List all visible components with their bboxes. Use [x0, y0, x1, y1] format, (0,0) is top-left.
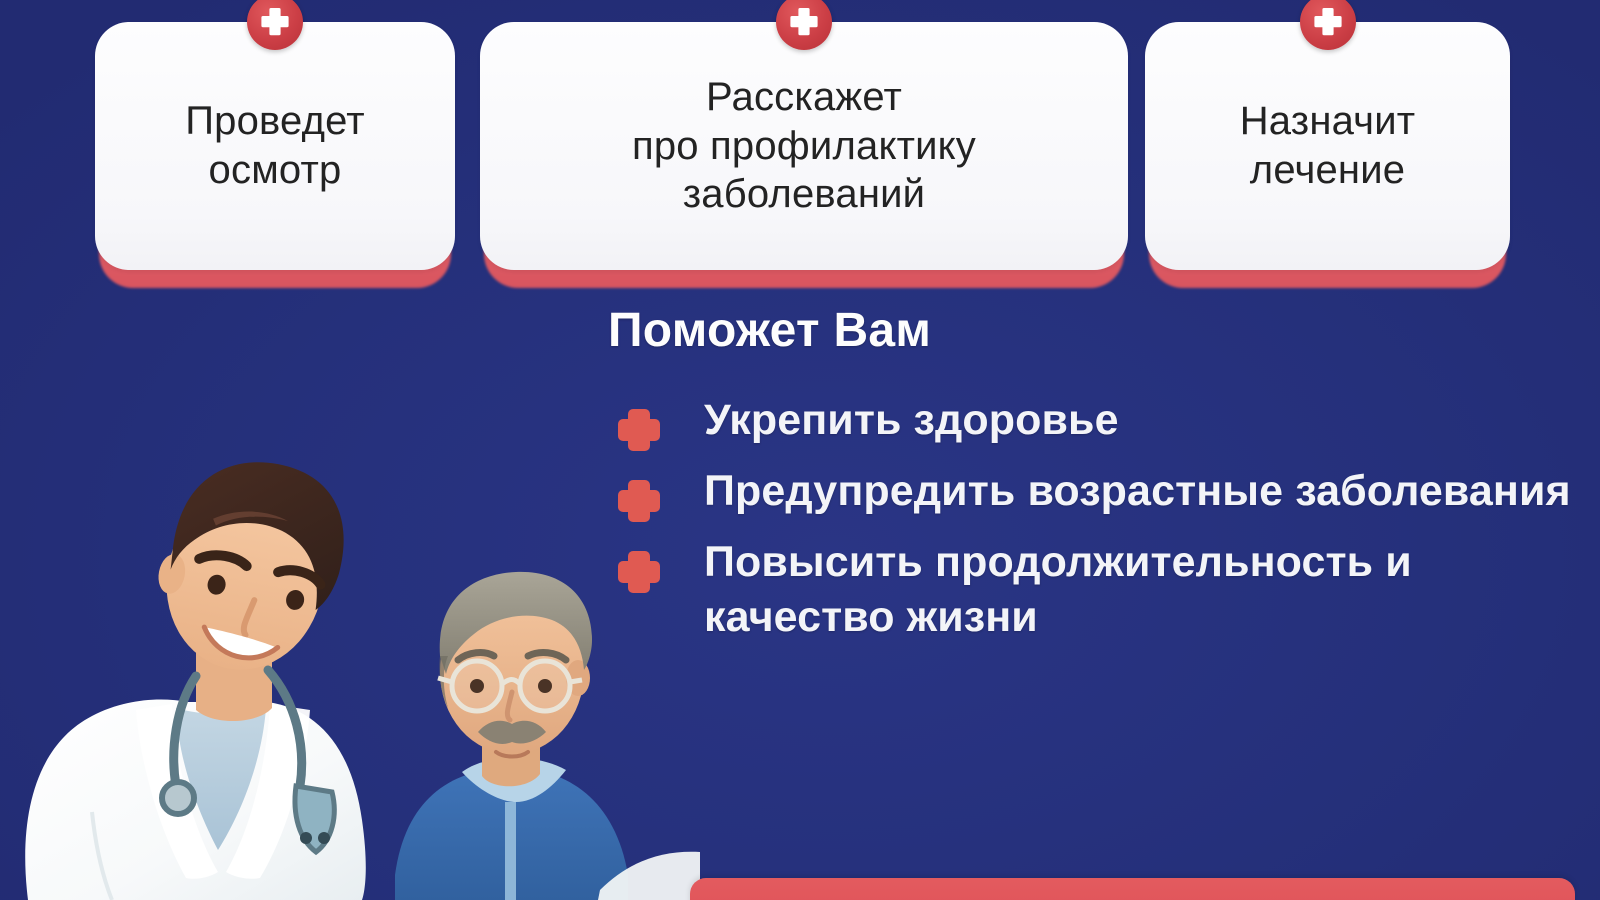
poster-canvas: Проведет осмотр Расскажет про профилакти…: [0, 0, 1600, 900]
card-surface: Расскажет про профилактику заболеваний: [480, 22, 1128, 270]
doctor-examining-elderly-patient-illustration: [0, 420, 700, 900]
red-cross-bullet-icon: [616, 407, 662, 453]
card-surface: Назначит лечение: [1145, 22, 1510, 270]
benefit-label: Предупредить возрастные заболевания: [704, 467, 1571, 515]
doctor-figure: [25, 446, 366, 900]
benefits-panel: Поможет Вам Укрепить здоровье Предупреди…: [608, 306, 1588, 661]
card-label: Расскажет про профилактику заболеваний: [610, 73, 998, 219]
panel-heading: Поможет Вам: [608, 306, 1588, 357]
card-label: Проведет осмотр: [163, 97, 387, 195]
benefit-item: Укрепить здоровье: [608, 393, 1588, 448]
benefit-label: Укрепить здоровье: [704, 396, 1119, 444]
red-cross-bullet-icon: [616, 478, 662, 524]
card-label: Назначит лечение: [1218, 97, 1438, 195]
card-exam[interactable]: Проведет осмотр: [95, 22, 455, 270]
card-treatment[interactable]: Назначит лечение: [1145, 22, 1510, 270]
red-cross-bullet-icon: [616, 549, 662, 595]
bottom-red-band: [690, 878, 1575, 900]
benefit-label: Повысить продолжительность и качество жи…: [704, 538, 1412, 641]
card-surface: Проведет осмотр: [95, 22, 455, 270]
patient-figure: [395, 572, 628, 900]
card-prevention[interactable]: Расскажет про профилактику заболеваний: [480, 22, 1128, 270]
benefit-item: Повысить продолжительность и качество жи…: [608, 535, 1588, 645]
benefit-item: Предупредить возрастные заболевания: [608, 464, 1588, 519]
cards-row: Проведет осмотр Расскажет про профилакти…: [0, 0, 1600, 300]
benefits-list: Укрепить здоровье Предупредить возрастны…: [608, 393, 1588, 645]
